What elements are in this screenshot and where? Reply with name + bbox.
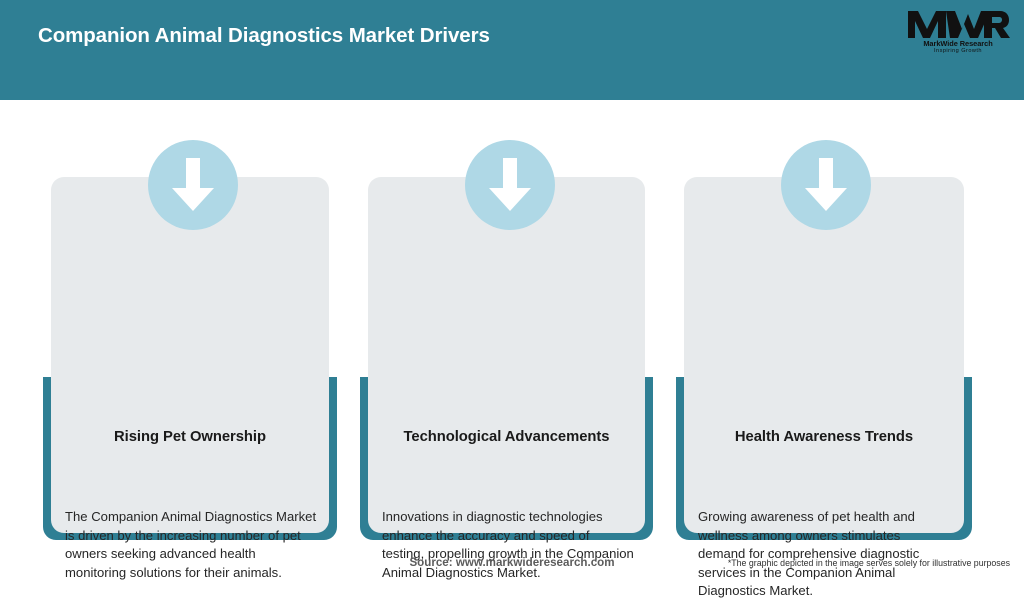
disclaimer-label: *The graphic depicted in the image serve… — [728, 558, 1010, 568]
card-heading: Rising Pet Ownership — [51, 429, 329, 445]
driver-card-2: Technological Advancements Innovations i… — [360, 0, 653, 576]
card-heading: Health Awareness Trends — [684, 429, 964, 445]
driver-card-1: Rising Pet Ownership The Companion Anima… — [43, 0, 337, 576]
arrow-down-icon — [487, 158, 533, 212]
card-surface: Rising Pet Ownership The Companion Anima… — [51, 177, 329, 533]
arrow-down-icon — [170, 158, 216, 212]
card-heading: Technological Advancements — [368, 429, 645, 445]
card-body: The Companion Animal Diagnostics Market … — [65, 508, 319, 582]
card-surface: Technological Advancements Innovations i… — [368, 177, 645, 533]
card-icon-badge — [781, 140, 871, 230]
card-surface: Health Awareness Trends Growing awarenes… — [684, 177, 964, 533]
driver-card-3: Health Awareness Trends Growing awarenes… — [676, 0, 972, 576]
card-icon-badge — [465, 140, 555, 230]
arrow-down-icon — [803, 158, 849, 212]
card-icon-badge — [148, 140, 238, 230]
card-body: Innovations in diagnostic technologies e… — [382, 508, 635, 582]
card-body: Growing awareness of pet health and well… — [698, 508, 948, 601]
